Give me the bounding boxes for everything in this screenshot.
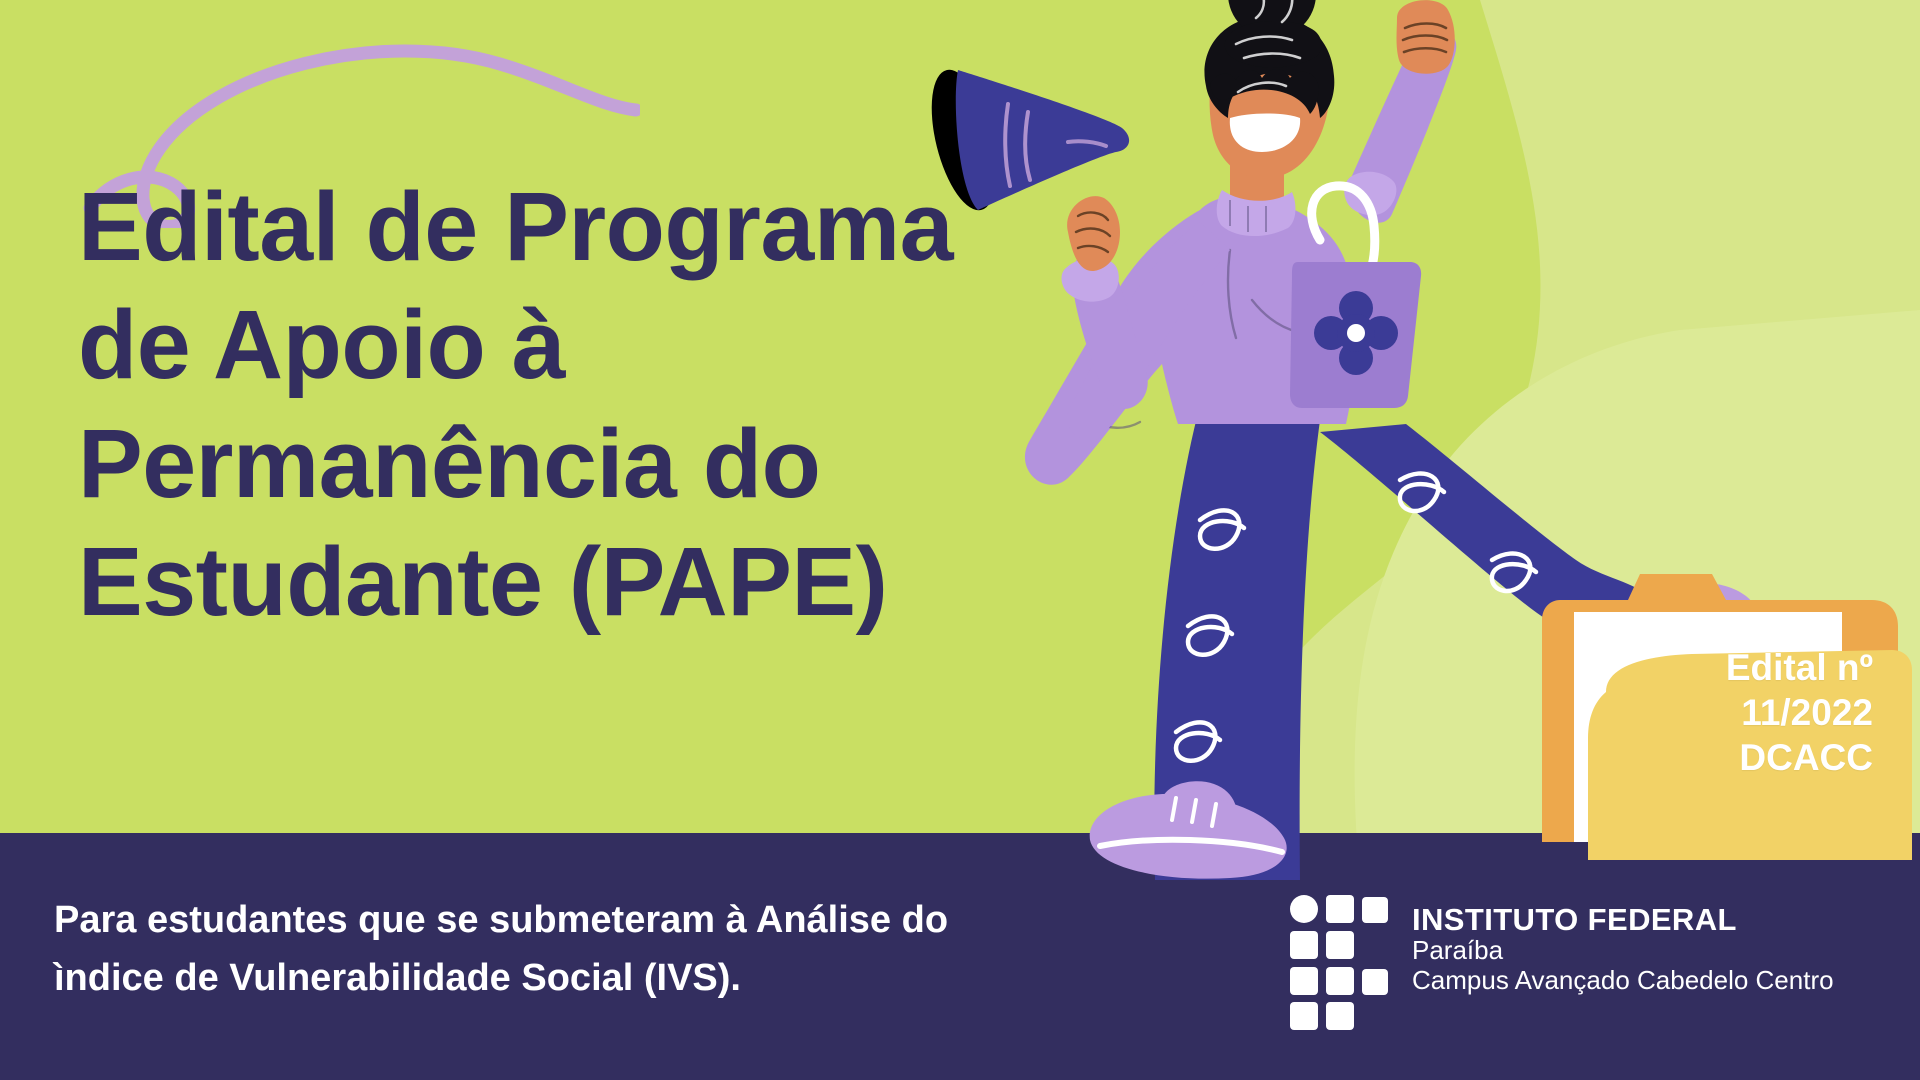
folder-badge-text: Edital nº 11/2022 DCACC <box>1575 645 1895 780</box>
folder-line-1: Edital nº <box>1575 645 1873 690</box>
ifpb-logo-mark-icon <box>1290 895 1392 1030</box>
purse <box>1290 186 1421 408</box>
headline-line-3: Permanência do <box>78 405 1108 523</box>
folder-line-2: 11/2022 <box>1575 690 1873 735</box>
ifpb-logo-text: INSTITUTO FEDERAL Paraíba Campus Avançad… <box>1412 895 1834 996</box>
ifpb-logo: INSTITUTO FEDERAL Paraíba Campus Avançad… <box>1290 895 1834 1030</box>
page-title: Edital de Programa de Apoio à Permanênci… <box>78 168 1108 641</box>
subtitle: Para estudantes que se submeteram à Anál… <box>54 892 1054 1008</box>
logo-line-instituto-federal: INSTITUTO FEDERAL <box>1412 903 1834 936</box>
headline-line-2: de Apoio à <box>78 286 1108 404</box>
folder-line-3: DCACC <box>1575 735 1873 780</box>
headline-line-4: Estudante (PAPE) <box>78 523 1108 641</box>
logo-line-paraiba: Paraíba <box>1412 936 1834 966</box>
logo-line-campus: Campus Avançado Cabedelo Centro <box>1412 966 1834 996</box>
subtitle-line-1: Para estudantes que se submeteram à Anál… <box>54 892 1054 950</box>
raised-fist-icon <box>1397 0 1455 74</box>
poster-canvas: Edital nº 11/2022 DCACC Edital de Progra… <box>0 0 1920 1080</box>
subtitle-line-2: ìndice de Vulnerabilidade Social (IVS). <box>54 950 1054 1008</box>
headline-line-1: Edital de Programa <box>78 168 1108 286</box>
